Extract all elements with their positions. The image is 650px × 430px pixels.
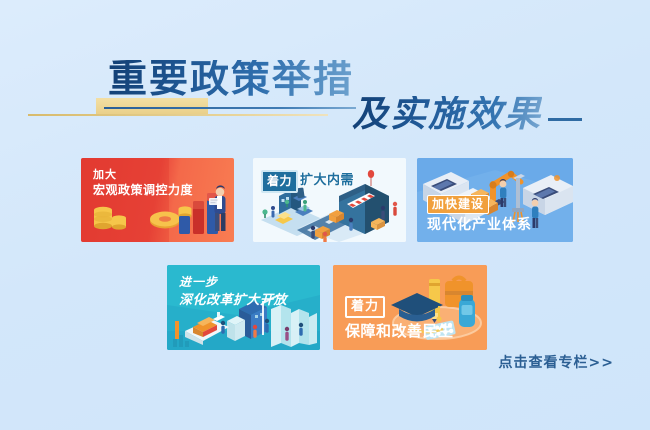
card-2-line-1: 着力 bbox=[261, 170, 298, 193]
card-4-line-2: 深化改革扩大开放 bbox=[179, 293, 287, 309]
improve-livelihood-card-caption: 着力 保障和改善民生 bbox=[345, 296, 454, 340]
view-column-link[interactable]: 点击查看专栏>> bbox=[499, 352, 614, 372]
title-line-1: 重要政策举措 bbox=[108, 60, 354, 99]
deepen-reform-card-caption: 进一步 深化改革扩大开放 bbox=[179, 275, 287, 308]
card-3-line-1: 加快建设 bbox=[427, 195, 489, 214]
card-5-line-2: 保障和改善民生 bbox=[345, 322, 454, 340]
title-dash bbox=[548, 118, 582, 121]
card-3-line-2: 现代化产业体系 bbox=[427, 217, 532, 234]
card-1-line-1: 加大 bbox=[93, 168, 193, 181]
macro-policy-card[interactable]: 加大 宏观政策调控力度 bbox=[81, 158, 234, 242]
title-line-2: 及实施效果 bbox=[352, 96, 542, 132]
card-4-line-1: 进一步 bbox=[179, 275, 287, 290]
card-2-line-2: 扩大内需 bbox=[300, 173, 354, 189]
page-title: 重要政策举措 及实施效果 bbox=[0, 56, 650, 146]
modern-industry-system-card-caption: 加快建设 现代化产业体系 bbox=[427, 194, 532, 234]
expand-domestic-demand-card[interactable]: 着力扩大内需 bbox=[253, 158, 406, 242]
macro-policy-card-caption: 加大 宏观政策调控力度 bbox=[93, 168, 193, 198]
banner-root: 重要政策举措 及实施效果 bbox=[0, 0, 650, 430]
modern-industry-system-card[interactable]: 加快建设 现代化产业体系 bbox=[417, 158, 573, 242]
deepen-reform-card[interactable]: 进一步 深化改革扩大开放 bbox=[167, 265, 320, 350]
expand-domestic-demand-card-caption: 着力扩大内需 bbox=[261, 170, 354, 193]
title-gold-rule bbox=[28, 114, 328, 116]
card-1-line-2: 宏观政策调控力度 bbox=[93, 183, 193, 198]
card-5-line-1: 着力 bbox=[345, 296, 385, 318]
improve-livelihood-card[interactable]: 着力 保障和改善民生 bbox=[333, 265, 487, 350]
title-underline bbox=[104, 107, 356, 109]
